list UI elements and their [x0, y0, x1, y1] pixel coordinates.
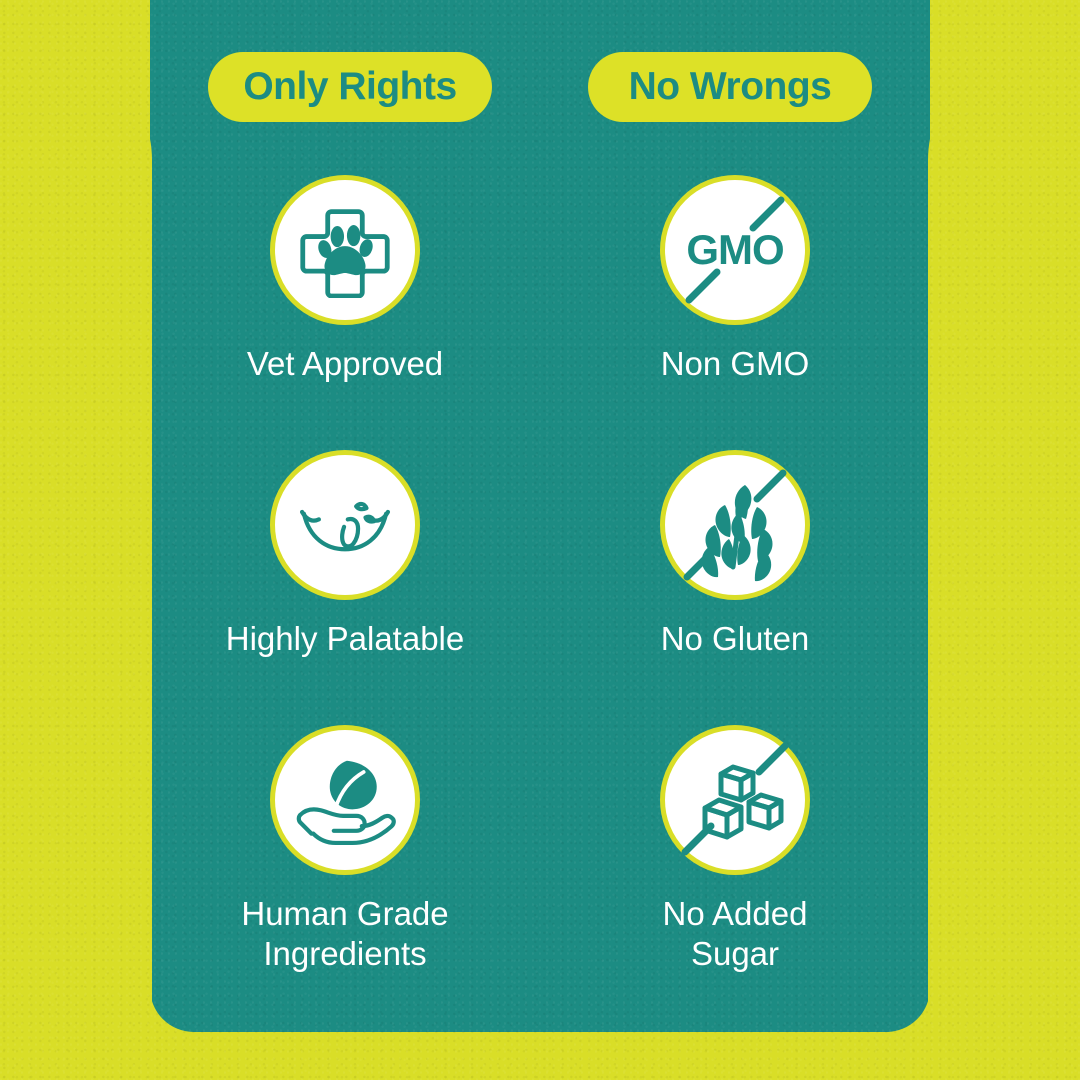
- badge-label: No Added Sugar: [663, 894, 808, 975]
- benefit-grid: Vet Approved GMO Non GMO: [150, 160, 930, 985]
- badge-label: Highly Palatable: [226, 619, 464, 659]
- pill-only-rights[interactable]: Only Rights: [208, 52, 492, 122]
- pill-only-rights-label: Only Rights: [243, 65, 456, 109]
- disc-no-added-sugar: [660, 725, 810, 875]
- badge-label: No Gluten: [661, 619, 810, 659]
- licking-tongue-icon: [289, 469, 401, 581]
- badge-human-grade-ingredients[interactable]: Human Grade Ingredients: [150, 710, 540, 985]
- disc-wrap: [270, 160, 420, 340]
- badge-no-gluten[interactable]: No Gluten: [540, 435, 930, 710]
- badge-highly-palatable[interactable]: Highly Palatable: [150, 435, 540, 710]
- vet-cross-paw-icon: [297, 202, 393, 298]
- yellow-right-panel: [928, 48, 1080, 1080]
- disc-vet-approved: [270, 175, 420, 325]
- disc-highly-palatable: [270, 450, 420, 600]
- badge-non-gmo[interactable]: GMO Non GMO: [540, 160, 930, 435]
- disc-wrap: [270, 710, 420, 890]
- disc-non-gmo: GMO: [660, 175, 810, 325]
- disc-wrap: GMO: [660, 160, 810, 340]
- disc-no-gluten: [660, 450, 810, 600]
- gmo-slashed-icon: [665, 180, 805, 320]
- badge-label: Human Grade Ingredients: [241, 894, 448, 975]
- pill-no-wrongs-label: No Wrongs: [629, 65, 832, 109]
- yellow-left-panel: [0, 48, 152, 1080]
- header-pill-row: Only Rights No Wrongs: [150, 52, 930, 122]
- disc-wrap: [270, 435, 420, 615]
- yellow-bottom-band: [0, 1032, 1080, 1080]
- hand-leaf-icon: [289, 744, 401, 856]
- badge-no-added-sugar[interactable]: No Added Sugar: [540, 710, 930, 985]
- disc-wrap: [660, 710, 810, 890]
- disc-human-grade: [270, 725, 420, 875]
- poster-canvas: Only Rights No Wrongs: [0, 0, 1080, 1080]
- wheat-slashed-icon: [665, 455, 805, 595]
- badge-vet-approved[interactable]: Vet Approved: [150, 160, 540, 435]
- sugar-cubes-slashed-icon: [665, 730, 805, 870]
- badge-label: Vet Approved: [247, 344, 443, 384]
- pill-no-wrongs[interactable]: No Wrongs: [588, 52, 872, 122]
- badge-label: Non GMO: [661, 344, 810, 384]
- disc-wrap: [660, 435, 810, 615]
